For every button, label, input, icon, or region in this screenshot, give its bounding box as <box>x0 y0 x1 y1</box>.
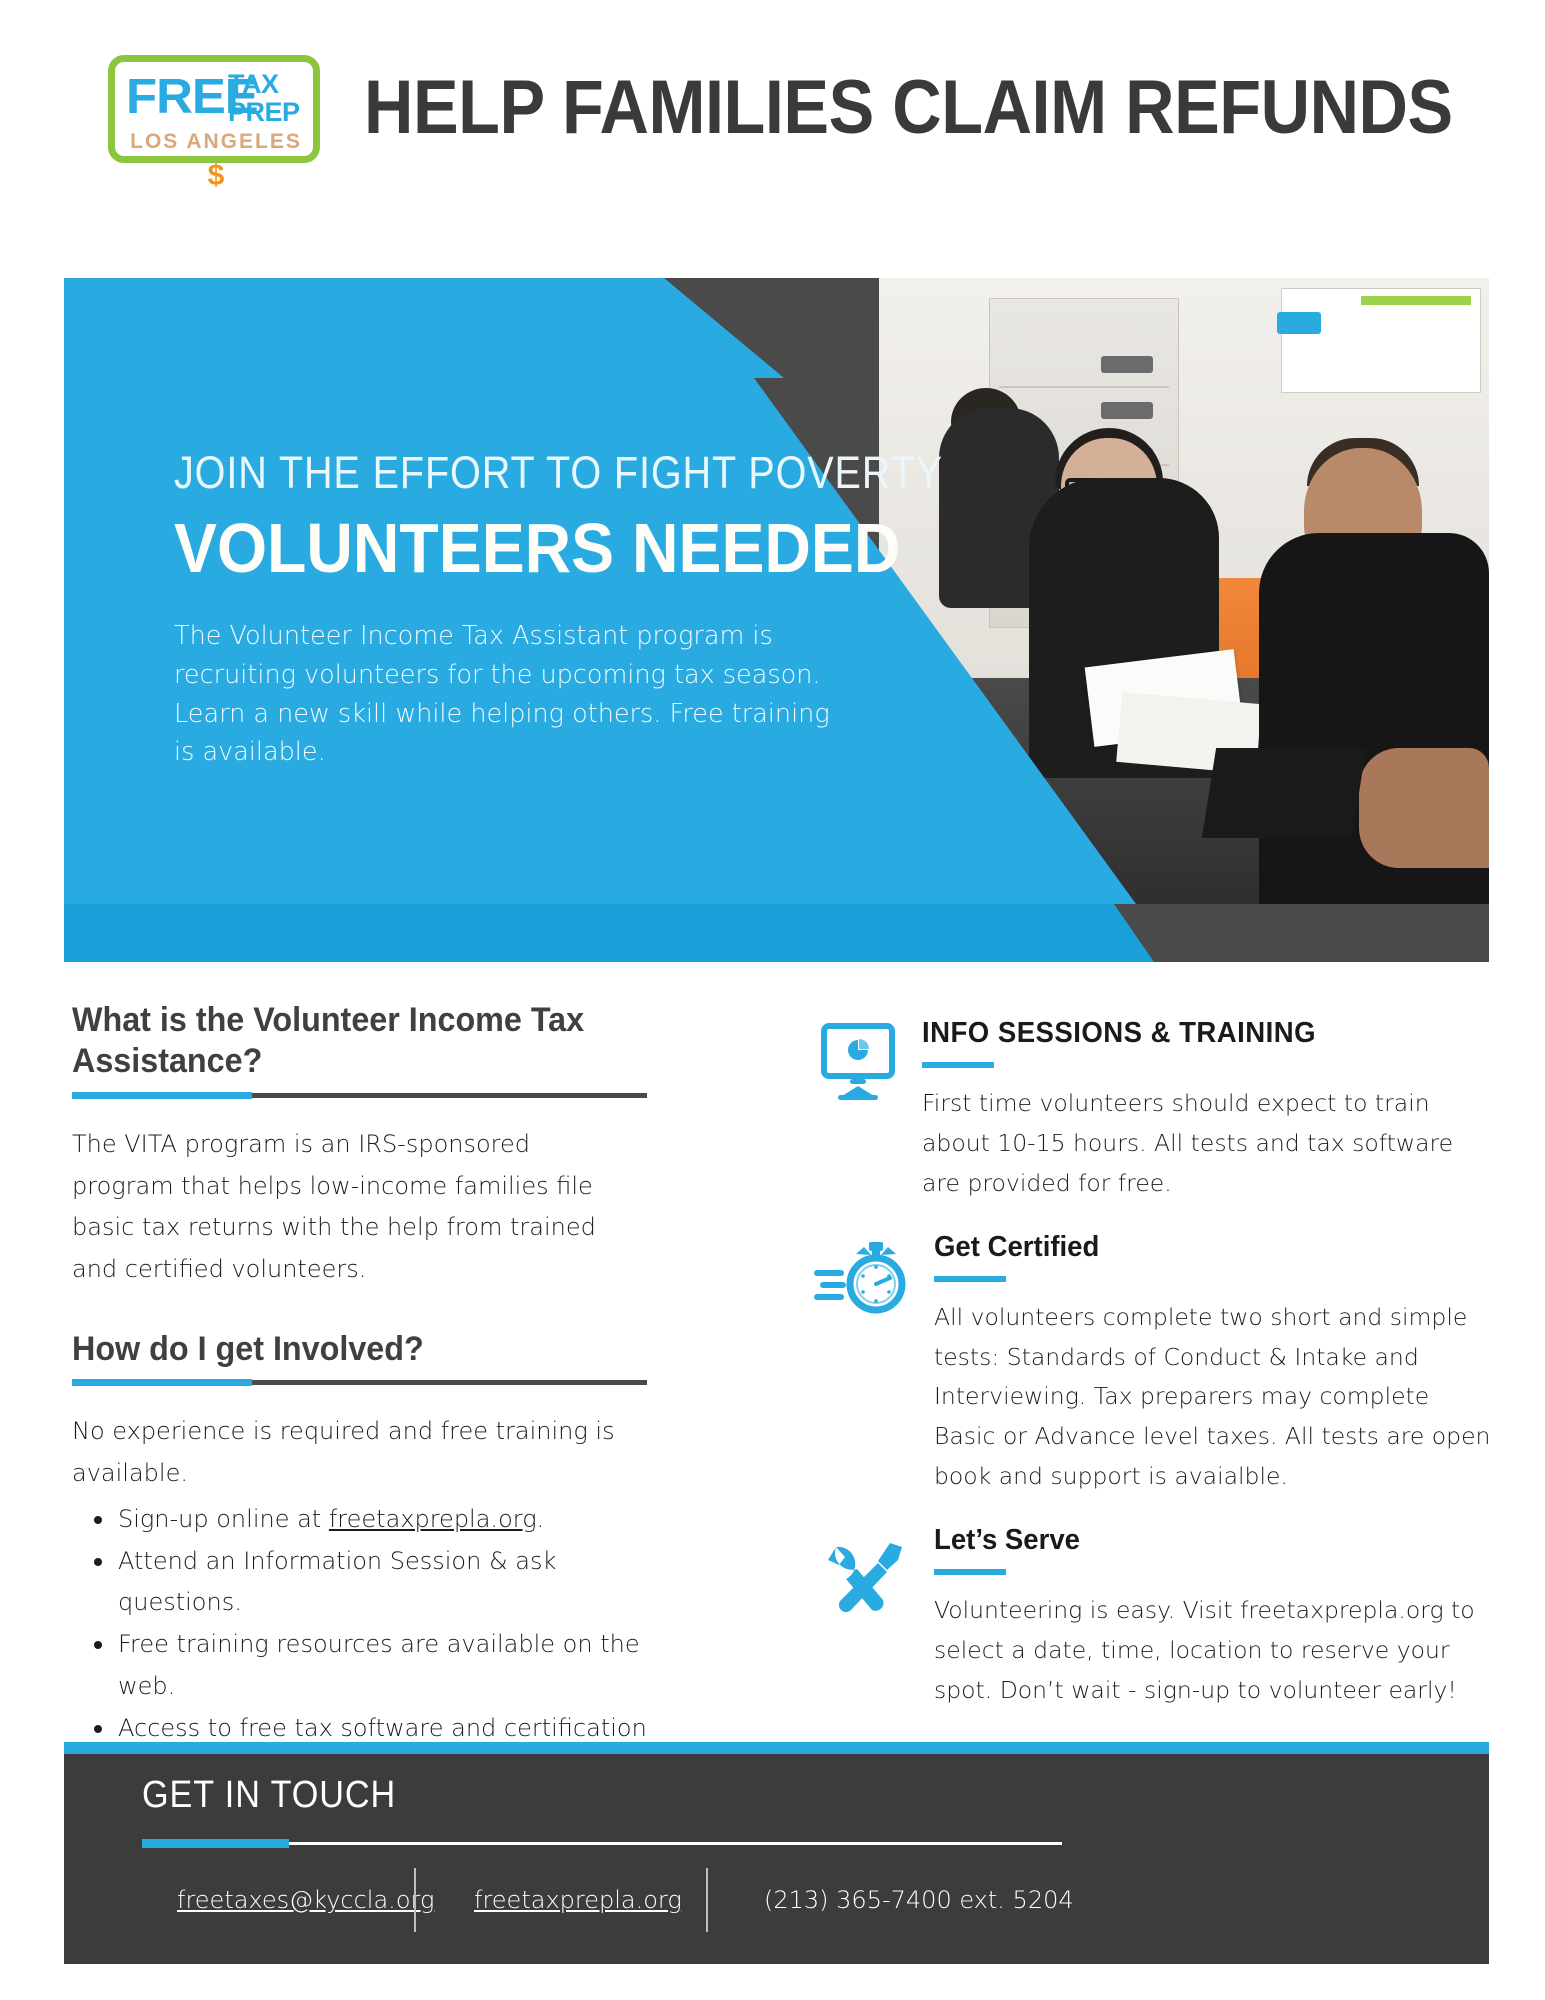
footer-divider <box>142 1842 1062 1845</box>
page-title: HELP FAMILIES CLAIM REFUNDS <box>364 70 1453 146</box>
logo-word-los-angeles: LOS ANGELES <box>100 131 332 152</box>
info-block-serve: Let’s Serve Volunteering is easy. Visit … <box>812 1525 1484 1711</box>
hero-blue-wedge-shape <box>64 278 784 378</box>
footer-phone: (213) 365-7400 ext. 5204 <box>708 1886 1108 1914</box>
page-footer: GET IN TOUCH freetaxes@kyccla.org freeta… <box>64 1742 1489 1964</box>
section-heading-vita: What is the Volunteer Income Tax Assista… <box>72 1000 642 1083</box>
hero-banner: JOIN THE EFFORT TO FIGHT POVERTY VOLUNTE… <box>64 278 1489 962</box>
hero-text-group: JOIN THE EFFORT TO FIGHT POVERTY VOLUNTE… <box>174 448 874 772</box>
logo-word-tax: TAX <box>228 71 279 98</box>
info-block-body: INFO SESSIONS & TRAINING First time volu… <box>812 1018 1484 1204</box>
page-header: FREE TAX PREP LOS ANGELES $ HELP FAMILIE… <box>0 0 1545 215</box>
section-heading-involved: How do I get Involved? <box>72 1329 642 1370</box>
info-block-title: Let’s Serve <box>934 1525 1457 1557</box>
info-block-text: All volunteers complete two short and si… <box>934 1298 1494 1498</box>
bullet-text-1: Sign-up online at freetaxprepla.org. <box>118 1505 544 1533</box>
right-column: INFO SESSIONS & TRAINING First time volu… <box>812 1018 1484 1739</box>
hero-description: The Volunteer Income Tax Assistant progr… <box>174 617 854 772</box>
title-underline <box>934 1569 1006 1575</box>
hero-kicker: JOIN THE EFFORT TO FIGHT POVERTY <box>174 448 790 498</box>
free-tax-prep-la-logo: FREE TAX PREP LOS ANGELES $ <box>100 45 332 170</box>
logo-word-prep: PREP <box>228 99 300 126</box>
section-divider <box>72 1380 647 1385</box>
section-paragraph-vita: The VITA program is an IRS-sponsored pro… <box>72 1124 632 1291</box>
footer-accent-bar <box>64 1742 1489 1754</box>
footer-website[interactable]: freetaxprepla.org <box>416 1886 706 1914</box>
hero-bottom-strip-blue <box>64 904 1154 962</box>
info-block-title: Get Certified <box>934 1232 1457 1264</box>
list-item: Attend an Information Session & ask ques… <box>72 1541 672 1625</box>
title-underline <box>922 1062 994 1068</box>
wrench-screwdriver-icon <box>812 1529 904 1615</box>
flyer-page: FREE TAX PREP LOS ANGELES $ HELP FAMILIE… <box>0 0 1545 2000</box>
list-item: Free training resources are available on… <box>72 1624 672 1708</box>
footer-contact-row: freetaxes@kyccla.org freetaxprepla.org (… <box>142 1868 1342 1932</box>
stopwatch-icon <box>812 1236 904 1322</box>
title-underline <box>934 1276 1006 1282</box>
signup-url-link[interactable]: freetaxprepla.org <box>329 1505 537 1533</box>
dollar-sign-icon: $ <box>100 161 332 191</box>
hero-headline: VOLUNTEERS NEEDED <box>174 512 818 586</box>
footer-email[interactable]: freetaxes@kyccla.org <box>142 1886 414 1914</box>
section-intro-involved: No experience is required and free train… <box>72 1411 672 1495</box>
info-block-title: INFO SESSIONS & TRAINING <box>922 1018 1456 1050</box>
list-item: Sign-up online at freetaxprepla.org. <box>72 1499 672 1541</box>
monitor-pie-chart-icon <box>812 1022 904 1108</box>
info-block-text: First time volunteers should expect to t… <box>922 1084 1482 1204</box>
info-block-certified: Get Certified All volunteers complete tw… <box>812 1232 1484 1498</box>
info-block-text: Volunteering is easy. Visit freetaxprepl… <box>934 1591 1494 1711</box>
info-block-sessions: INFO SESSIONS & TRAINING First time volu… <box>812 1018 1484 1204</box>
footer-heading: GET IN TOUCH <box>142 1776 396 1814</box>
section-divider <box>72 1093 647 1098</box>
